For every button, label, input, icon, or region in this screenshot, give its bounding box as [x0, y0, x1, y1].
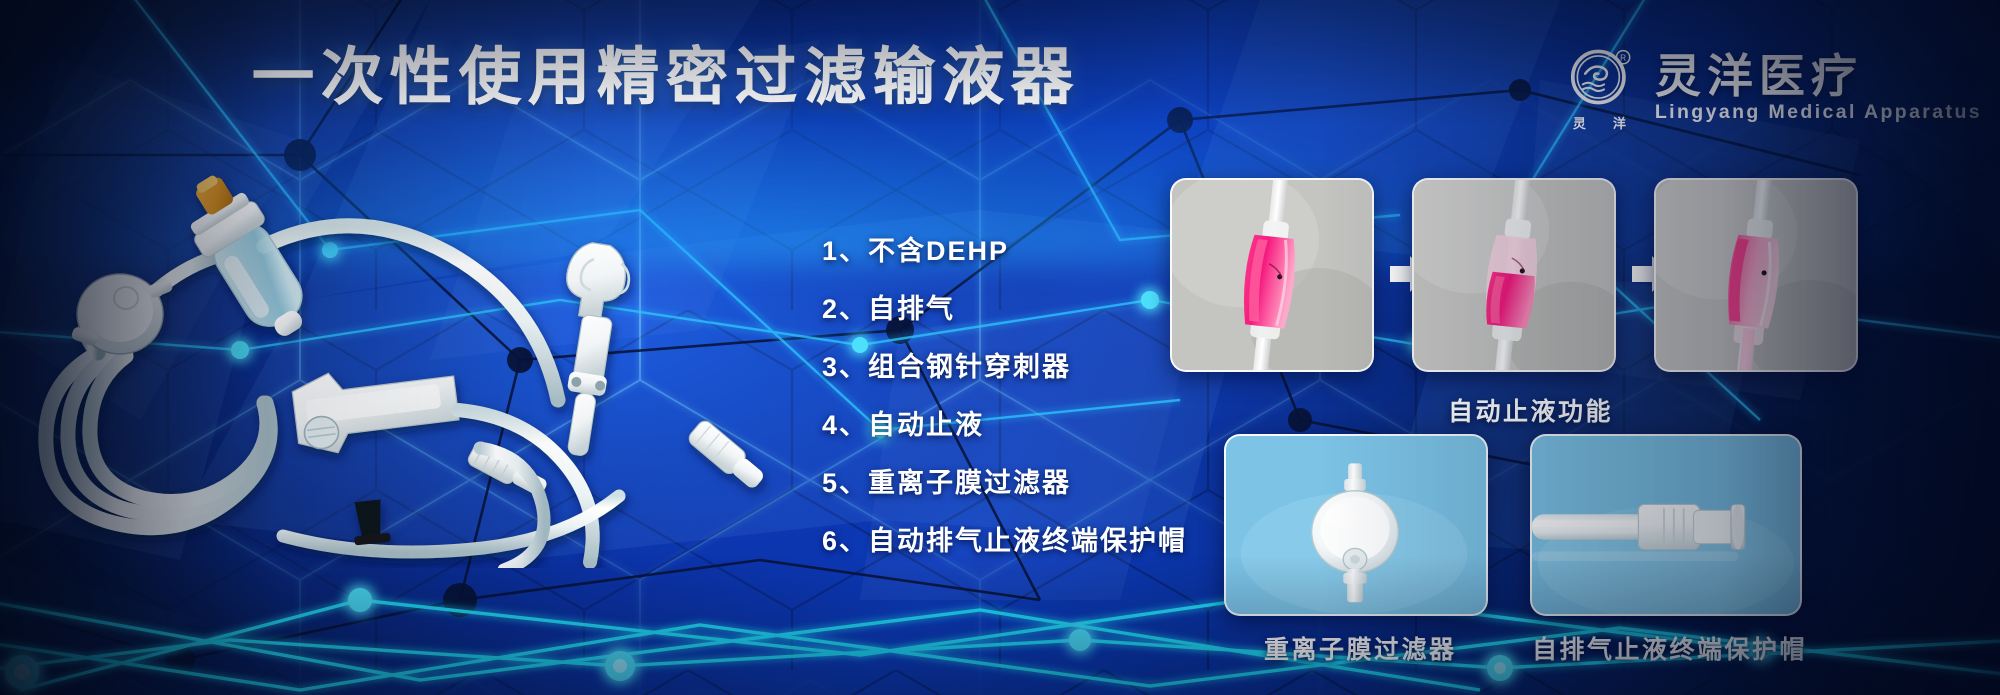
- brand-logo-block: R 灵 洋 灵洋医疗 Lingyang Medical Apparatus: [1567, 44, 1982, 132]
- cap-caption: 自排气止液终端保护帽: [1532, 630, 1807, 666]
- product-banner: 一次性使用精密过滤输液器 R 灵 洋 灵洋医疗 Ling: [0, 0, 2000, 695]
- product-photo: [28, 148, 788, 568]
- brand-name-cn: 灵洋医疗: [1655, 53, 1982, 99]
- lingyang-circle-logo-icon: R: [1567, 44, 1633, 110]
- feature-item-1: 1、不含DEHP: [822, 222, 1187, 280]
- page-title: 一次性使用精密过滤输液器: [252, 47, 1080, 109]
- logo-char-right: 洋: [1613, 113, 1627, 132]
- feature-list: 1、不含DEHP 2、自排气 3、组合钢针穿刺器 4、自动止液 5、重离子膜过滤…: [822, 222, 1187, 570]
- auto-stop-frame-3: [1654, 178, 1858, 372]
- feature-item-4: 4、自动止液: [822, 396, 1187, 454]
- auto-vent-stop-terminal-cap-photo: [1530, 434, 1802, 616]
- brand-text: 灵洋医疗 Lingyang Medical Apparatus: [1655, 53, 1982, 123]
- svg-text:R: R: [1620, 54, 1626, 63]
- logo-char-left: 灵: [1573, 113, 1587, 132]
- feature-item-5: 5、重离子膜过滤器: [822, 454, 1187, 512]
- feature-item-6: 6、自动排气止液终端保护帽: [822, 512, 1187, 570]
- brand-name-en: Lingyang Medical Apparatus: [1655, 103, 1982, 123]
- auto-stop-frame-2: [1412, 178, 1616, 372]
- logo-mark: R 灵 洋: [1567, 44, 1633, 132]
- feature-item-2: 2、自排气: [822, 280, 1187, 338]
- auto-stop-caption: 自动止液功能: [1448, 392, 1613, 428]
- auto-stop-frame-1: [1170, 178, 1374, 372]
- heavy-ion-membrane-filter-photo: [1224, 434, 1488, 616]
- filter-caption: 重离子膜过滤器: [1264, 630, 1457, 666]
- feature-item-3: 3、组合钢针穿刺器: [822, 338, 1187, 396]
